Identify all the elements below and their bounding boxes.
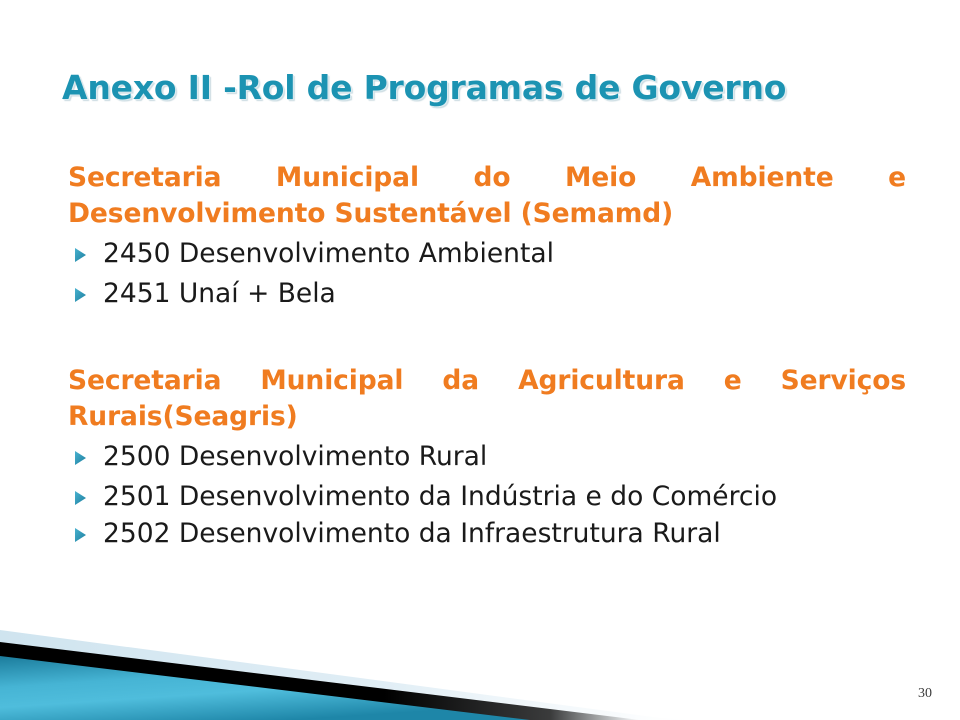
triangle-right-icon (74, 450, 87, 466)
slide-canvas: Anexo II -Rol de Programas de Governo Se… (0, 0, 960, 720)
triangle-right-icon (74, 527, 87, 543)
section-semamd: Secretaria Municipal do Meio Ambiente e … (68, 160, 906, 311)
content-body: Secretaria Municipal do Meio Ambiente e … (68, 160, 906, 552)
program-list: 2500 Desenvolvimento Rural 2501 Desenvol… (68, 439, 906, 552)
section-heading: Secretaria Municipal da Agricultura e Se… (68, 363, 906, 435)
list-item-label: 2451 Unaí + Bela (103, 278, 336, 309)
list-item[interactable]: 2450 Desenvolvimento Ambiental (68, 236, 906, 272)
list-item-label: 2502 Desenvolvimento da Infraestrutura R… (103, 518, 721, 549)
corner-diagonal-graphic (0, 600, 700, 720)
section-heading: Secretaria Municipal do Meio Ambiente e … (68, 160, 906, 232)
list-item-label: 2450 Desenvolvimento Ambiental (103, 238, 554, 269)
list-item[interactable]: 2501 Desenvolvimento da Indústria e do C… (68, 479, 906, 515)
page-number: 30 (918, 686, 932, 702)
list-item[interactable]: 2500 Desenvolvimento Rural (68, 439, 906, 475)
section-spacer (68, 311, 906, 363)
list-item[interactable]: 2451 Unaí + Bela (68, 276, 906, 312)
page-title: Anexo II -Rol de Programas de Governo (62, 70, 912, 106)
list-item-label: 2501 Desenvolvimento da Indústria e do C… (103, 481, 777, 512)
triangle-right-icon (74, 287, 87, 303)
program-list: 2450 Desenvolvimento Ambiental 2451 Unaí… (68, 236, 906, 311)
triangle-right-icon (74, 490, 87, 506)
list-item[interactable]: 2502 Desenvolvimento da Infraestrutura R… (68, 516, 906, 552)
list-item-label: 2500 Desenvolvimento Rural (103, 441, 487, 472)
triangle-right-icon (74, 247, 87, 263)
section-seagris: Secretaria Municipal da Agricultura e Se… (68, 363, 906, 552)
